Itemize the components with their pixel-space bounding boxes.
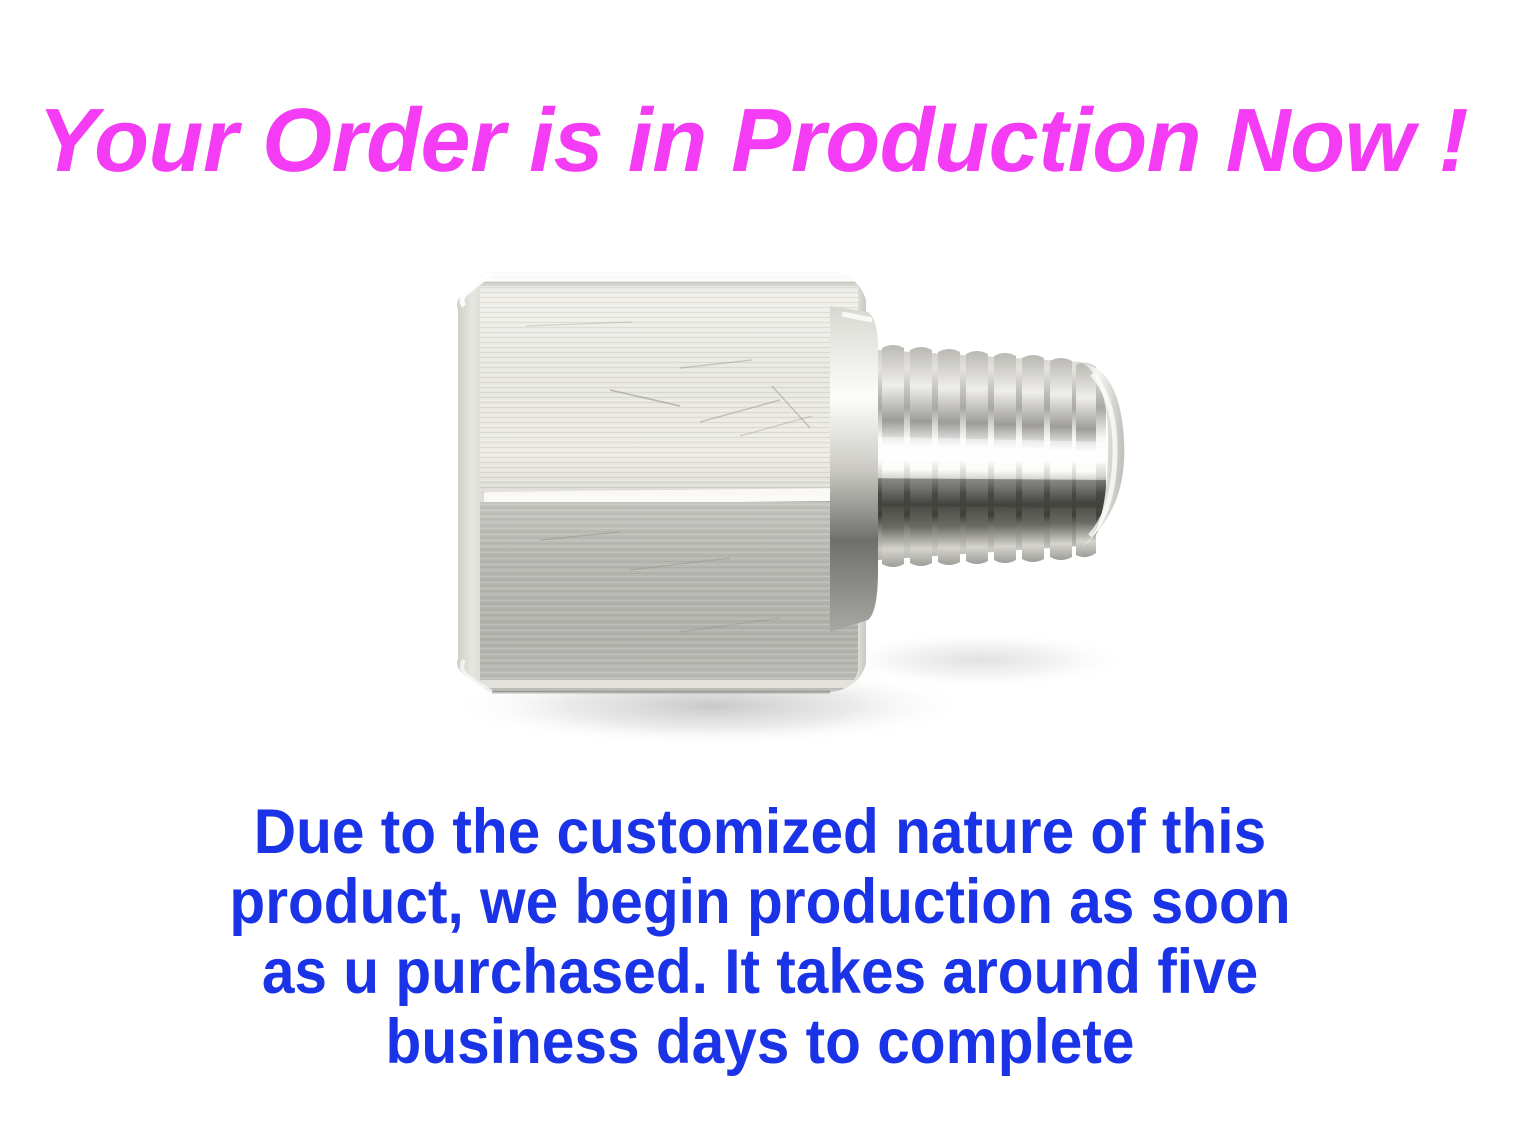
- hex-body: [457, 268, 870, 698]
- page-title: Your Order is in Production Now !: [0, 96, 1513, 186]
- promo-banner: Your Order is in Production Now !: [0, 0, 1520, 1140]
- production-notice: Due to the customized nature of this pro…: [53, 797, 1467, 1077]
- hex-to-thread-collar: [830, 306, 878, 632]
- male-threaded-nipple: [848, 343, 1124, 567]
- notice-line-4: business days to complete: [53, 1007, 1467, 1077]
- notice-line-2: product, we begin production as soon: [53, 867, 1467, 937]
- notice-line-1: Due to the customized nature of this: [53, 797, 1467, 867]
- notice-line-3: as u purchased. It takes around five: [53, 937, 1467, 1007]
- drop-shadow-thread: [830, 632, 1130, 688]
- hex-adapter-fitting-illustration: [380, 240, 1180, 800]
- product-image: [380, 240, 1180, 800]
- thread-shadow-band: [848, 478, 1106, 508]
